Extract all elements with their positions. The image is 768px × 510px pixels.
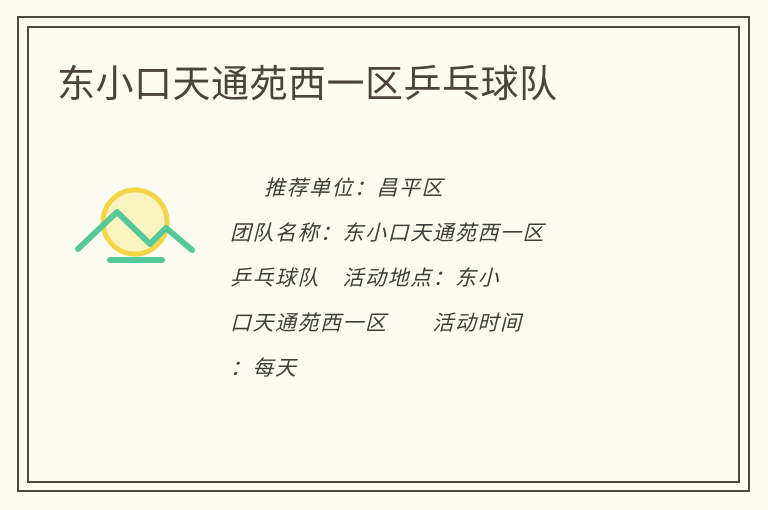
detail-line-2: 团队名称：东小口天通苑西一区 <box>230 211 646 256</box>
info-card: 东小口天通苑西一区乒乓球队 推荐单位：昌平区 团队名称：东小口天通苑西一区 乒乓… <box>0 0 768 510</box>
page-title: 东小口天通苑西一区乒乓球队 <box>57 60 558 110</box>
image-placeholder-icon <box>74 178 196 266</box>
detail-line-5: ：每天 <box>230 346 646 391</box>
detail-line-1: 推荐单位：昌平区 <box>230 166 646 211</box>
detail-line-3: 乒乓球队 活动地点：东小 <box>230 256 646 301</box>
sun-icon <box>103 190 167 254</box>
team-details: 推荐单位：昌平区 团队名称：东小口天通苑西一区 乒乓球队 活动地点：东小 口天通… <box>230 166 646 391</box>
detail-line-4: 口天通苑西一区 活动时间 <box>230 301 646 346</box>
